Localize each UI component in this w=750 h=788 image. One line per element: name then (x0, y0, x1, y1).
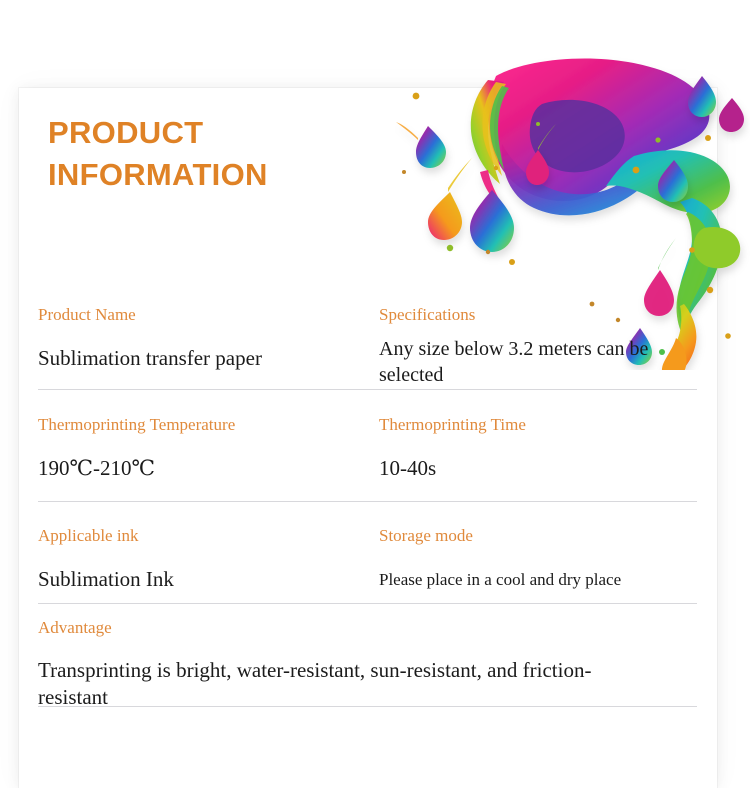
spec-value: Please place in a cool and dry place (379, 569, 697, 591)
spec-label: Advantage (38, 618, 697, 638)
spec-cell-product-name: Product Name Sublimation transfer paper (38, 296, 379, 389)
spec-cell-storage-mode: Storage mode Please place in a cool and … (379, 502, 697, 603)
spec-cell-thermoprinting-temperature: Thermoprinting Temperature 190℃-210℃ (38, 390, 379, 501)
spec-label: Product Name (38, 305, 369, 325)
spec-value: Sublimation Ink (38, 566, 369, 593)
spec-cell-specifications: Specifications Any size below 3.2 meters… (379, 296, 697, 389)
spec-value: 190℃-210℃ (38, 455, 369, 482)
spec-value: Sublimation transfer paper (38, 345, 369, 372)
spec-label: Storage mode (379, 526, 697, 546)
page-title-line2: INFORMATION (48, 154, 378, 196)
spec-value: 10-40s (379, 455, 697, 482)
spec-cell-thermoprinting-time: Thermoprinting Time 10-40s (379, 390, 697, 501)
product-information-page: PRODUCT INFORMATION Product Name Sublima… (0, 0, 750, 731)
spec-cell-applicable-ink: Applicable ink Sublimation Ink (38, 502, 379, 603)
spec-value: Any size below 3.2 meters can be selecte… (379, 337, 697, 388)
spec-label: Applicable ink (38, 526, 369, 546)
table-row: Advantage Transprinting is bright, water… (38, 604, 697, 707)
spec-label: Specifications (379, 305, 697, 325)
page-title-line1: PRODUCT (48, 115, 203, 150)
spec-value: Transprinting is bright, water-resistant… (38, 657, 638, 711)
table-row: Product Name Sublimation transfer paper … (38, 296, 697, 390)
page-title: PRODUCT INFORMATION (48, 112, 378, 196)
table-row: Applicable ink Sublimation Ink Storage m… (38, 502, 697, 604)
spec-label: Thermoprinting Time (379, 415, 697, 435)
table-row: Thermoprinting Temperature 190℃-210℃ The… (38, 390, 697, 502)
spec-label: Thermoprinting Temperature (38, 415, 369, 435)
spec-table: Product Name Sublimation transfer paper … (38, 296, 697, 707)
spec-cell-advantage: Advantage Transprinting is bright, water… (38, 604, 697, 706)
